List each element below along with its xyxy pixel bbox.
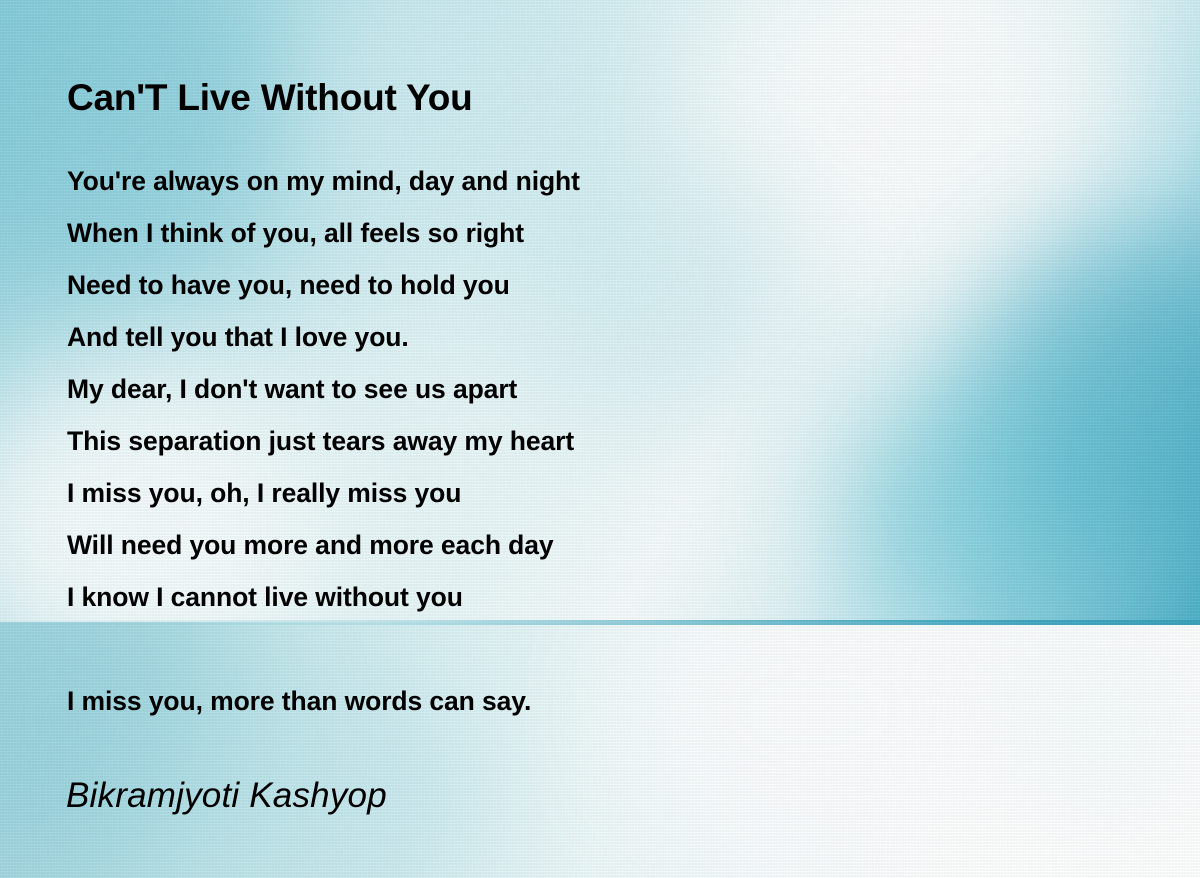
poem-author: Bikramjyoti Kashyop (66, 776, 387, 816)
poem-title: Can'T Live Without You (67, 77, 473, 120)
poem-line: I know I cannot live without you (67, 571, 1147, 623)
poem-line: Need to have you, need to hold you (67, 259, 1147, 311)
poem-line: I miss you, more than words can say. (67, 675, 1147, 727)
poem-line: Will need you more and more each day (67, 519, 1147, 571)
poem-line: And tell you that I love you. (67, 311, 1147, 363)
poem-line: When I think of you, all feels so right (67, 207, 1147, 259)
poem-line-blank (67, 623, 1147, 675)
poem-content: Can'T Live Without You You're always on … (0, 0, 1200, 878)
poem-line: This separation just tears away my heart (67, 415, 1147, 467)
poem-body: You're always on my mind, day and nightW… (67, 155, 1147, 727)
poem-image-card: Can'T Live Without You You're always on … (0, 0, 1200, 878)
poem-line: You're always on my mind, day and night (67, 155, 1147, 207)
poem-line: I miss you, oh, I really miss you (67, 467, 1147, 519)
poem-line: My dear, I don't want to see us apart (67, 363, 1147, 415)
